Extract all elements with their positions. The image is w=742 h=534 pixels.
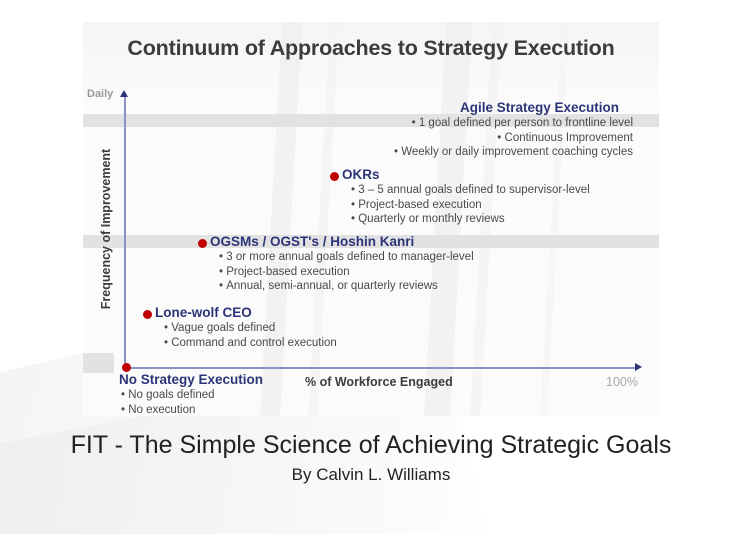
slide-canvas: Continuum of Approaches to Strategy Exec… (0, 0, 742, 534)
bullet-item: Project-based execution (351, 198, 590, 213)
chart-title: Continuum of Approaches to Strategy Exec… (83, 36, 659, 61)
data-point-marker (143, 310, 152, 319)
bullet-item: Annual, semi-annual, or quarterly review… (219, 279, 474, 294)
bullet-item: Vague goals defined (164, 321, 337, 336)
data-point-label: Lone-wolf CEO (155, 305, 337, 320)
bullet-item: 3 – 5 annual goals defined to supervisor… (351, 183, 590, 198)
bullet-item: Quarterly or monthly reviews (351, 212, 590, 227)
horizontal-band (83, 353, 114, 373)
x-axis-arrow-icon (635, 363, 642, 371)
watermark-stripe (258, 22, 305, 416)
x-axis-line (124, 367, 639, 369)
y-axis-max-tick-label: Daily (87, 88, 113, 100)
watermark-stripe (306, 22, 342, 416)
panel-top-gradient (83, 22, 659, 100)
chart-panel: Continuum of Approaches to Strategy Exec… (83, 22, 659, 416)
data-point-marker (330, 172, 339, 181)
slide-caption: FIT - The Simple Science of Achieving St… (0, 428, 742, 488)
data-point-marker (122, 363, 131, 372)
data-point-agile-strategy-execution: Agile Strategy Execution 1 goal defined … (333, 100, 633, 160)
data-point-bullets: 3 or more annual goals defined to manage… (210, 250, 474, 294)
data-point-no-strategy-execution: No Strategy Execution No goals defined N… (119, 372, 263, 416)
y-axis-title: Frequency of Improvement (99, 144, 113, 314)
data-point-label: OGSMs / OGST's / Hoshin Kanri (210, 234, 474, 249)
caption-author: By Calvin L. Williams (0, 462, 742, 488)
data-point-label: OKRs (342, 167, 590, 182)
bullet-item: 3 or more annual goals defined to manage… (219, 250, 474, 265)
y-axis-arrow-icon (120, 90, 128, 97)
data-point-bullets: Vague goals defined Command and control … (155, 321, 337, 350)
data-point-bullets: No goals defined No execution (119, 388, 263, 416)
y-axis-line (124, 96, 126, 369)
bullet-item: Project-based execution (219, 265, 474, 280)
data-point-lone-wolf-ceo: Lone-wolf CEO Vague goals defined Comman… (155, 305, 337, 350)
data-point-bullets: 1 goal defined per person to frontline l… (333, 116, 633, 160)
data-point-label: Agile Strategy Execution (333, 100, 633, 115)
bullet-item: Command and control execution (164, 336, 337, 351)
x-axis-max-tick-label: 100% (606, 375, 638, 389)
bullet-item: Continuous Improvement (333, 131, 633, 146)
data-point-label: No Strategy Execution (119, 372, 263, 387)
bullet-item: 1 goal defined per person to frontline l… (333, 116, 633, 131)
data-point-bullets: 3 – 5 annual goals defined to supervisor… (342, 183, 590, 227)
data-point-okrs: OKRs 3 – 5 annual goals defined to super… (342, 167, 590, 227)
data-point-ogsms-ogsts-hoshin-kanri: OGSMs / OGST's / Hoshin Kanri 3 or more … (210, 234, 474, 294)
caption-title: FIT - The Simple Science of Achieving St… (0, 428, 742, 462)
x-axis-title: % of Workforce Engaged (305, 375, 453, 389)
data-point-marker (198, 239, 207, 248)
bullet-item: No execution (121, 403, 263, 417)
bullet-item: No goals defined (121, 388, 263, 403)
bullet-item: Weekly or daily improvement coaching cyc… (333, 145, 633, 160)
